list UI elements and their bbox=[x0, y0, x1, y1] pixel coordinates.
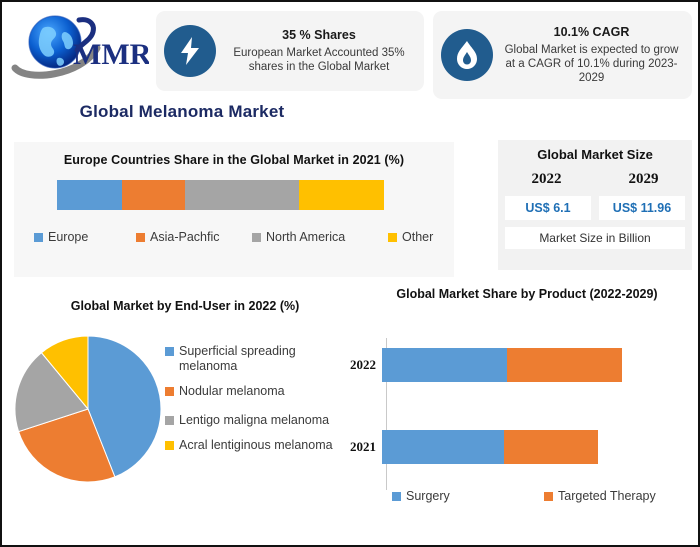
stat-card-shares: 35 % Shares European Market Accounted 35… bbox=[156, 11, 424, 91]
legend-swatch-icon bbox=[34, 233, 43, 242]
legend-item: Superficial spreading melanoma bbox=[165, 344, 340, 374]
bar-segment-targeted-therapy bbox=[504, 430, 598, 464]
legend-item: Other bbox=[388, 230, 433, 244]
legend-item: North America bbox=[252, 230, 388, 244]
stacked-bar bbox=[382, 430, 598, 464]
legend-swatch-icon bbox=[165, 387, 174, 396]
bar-segment-asia-pachfic bbox=[122, 180, 184, 210]
market-size-years: 2022 2029 bbox=[498, 171, 692, 188]
legend-item: Asia-Pachfic bbox=[136, 230, 252, 244]
legend-swatch-icon bbox=[136, 233, 145, 242]
product-chart-title: Global Market Share by Product (2022-202… bbox=[382, 287, 672, 303]
bar-segment-north-america bbox=[185, 180, 299, 210]
legend-label: Superficial spreading melanoma bbox=[179, 344, 340, 374]
category-label: 2022 bbox=[332, 357, 382, 373]
market-size-title: Global Market Size bbox=[498, 140, 692, 162]
market-size-values: US$ 6.1 US$ 11.96 bbox=[498, 196, 692, 220]
bar-segment-europe bbox=[57, 180, 122, 210]
infographic-canvas: MMR 35 % Shares European Market Accounte… bbox=[0, 0, 700, 547]
globe-logo-icon: MMR bbox=[11, 12, 149, 82]
legend-label: Acral lentiginous melanoma bbox=[179, 438, 333, 453]
pie-chart-legend: Superficial spreading melanomaNodular me… bbox=[165, 344, 340, 463]
legend-label: Nodular melanoma bbox=[179, 384, 285, 399]
legend-swatch-icon bbox=[544, 492, 553, 501]
legend-swatch-icon bbox=[165, 441, 174, 450]
stat-headline: 10.1% CAGR bbox=[501, 25, 682, 40]
lightning-bolt-glyph bbox=[177, 36, 203, 66]
stat-headline: 35 % Shares bbox=[224, 28, 414, 43]
legend-item: Surgery bbox=[392, 489, 544, 503]
end-user-pie-chart bbox=[14, 335, 162, 483]
legend-swatch-icon bbox=[392, 492, 401, 501]
bar-segment-targeted-therapy bbox=[507, 348, 622, 382]
stat-description: European Market Accounted 35% shares in … bbox=[224, 46, 414, 74]
legend-label: Surgery bbox=[406, 489, 450, 503]
flame-icon bbox=[441, 29, 493, 81]
legend-label: Targeted Therapy bbox=[558, 489, 656, 503]
product-share-chart: 2022 2021 bbox=[332, 330, 682, 510]
pie-chart-title: Global Market by End-User in 2022 (%) bbox=[20, 299, 350, 313]
legend-item: Nodular melanoma bbox=[165, 384, 340, 399]
product-chart-legend: SurgeryTargeted Therapy bbox=[392, 489, 662, 503]
chart-legend: EuropeAsia-PachficNorth AmericaOther bbox=[34, 230, 434, 244]
brand-logo: MMR bbox=[2, 2, 152, 92]
legend-swatch-icon bbox=[165, 347, 174, 356]
legend-swatch-icon bbox=[252, 233, 261, 242]
legend-label: North America bbox=[266, 230, 345, 244]
market-size-value: US$ 6.1 bbox=[505, 196, 591, 220]
chart-row: 2022 bbox=[332, 348, 622, 382]
page-title: Global Melanoma Market bbox=[2, 102, 362, 122]
market-size-year: 2022 bbox=[498, 171, 595, 188]
chart-row: 2021 bbox=[332, 430, 598, 464]
chart-title: Europe Countries Share in the Global Mar… bbox=[14, 142, 454, 167]
bar-segment-surgery bbox=[382, 348, 507, 382]
legend-label: Europe bbox=[48, 230, 88, 244]
lightning-bolt-icon bbox=[164, 25, 216, 77]
market-size-panel: Global Market Size 2022 2029 US$ 6.1 US$… bbox=[498, 140, 692, 270]
flame-glyph bbox=[455, 40, 479, 70]
header: MMR 35 % Shares European Market Accounte… bbox=[2, 2, 700, 97]
bar-segment-other bbox=[299, 180, 384, 210]
europe-share-chart: Europe Countries Share in the Global Mar… bbox=[14, 142, 454, 277]
bar-segment-surgery bbox=[382, 430, 504, 464]
market-size-value: US$ 11.96 bbox=[599, 196, 685, 220]
market-size-year: 2029 bbox=[595, 171, 692, 188]
category-label: 2021 bbox=[332, 439, 382, 455]
legend-item: Europe bbox=[34, 230, 136, 244]
stat-card-cagr: 10.1% CAGR Global Market is expected to … bbox=[433, 11, 692, 99]
stacked-bar bbox=[382, 348, 622, 382]
legend-item: Targeted Therapy bbox=[544, 489, 656, 503]
legend-label: Other bbox=[402, 230, 433, 244]
brand-wordmark: MMR bbox=[73, 38, 149, 71]
legend-item: Lentigo maligna melanoma bbox=[165, 413, 340, 428]
legend-swatch-icon bbox=[388, 233, 397, 242]
legend-label: Asia-Pachfic bbox=[150, 230, 219, 244]
legend-swatch-icon bbox=[165, 416, 174, 425]
market-size-footnote: Market Size in Billion bbox=[505, 227, 685, 249]
legend-label: Lentigo maligna melanoma bbox=[179, 413, 329, 428]
stat-description: Global Market is expected to grow at a C… bbox=[501, 43, 682, 85]
legend-item: Acral lentiginous melanoma bbox=[165, 438, 340, 453]
stacked-bar bbox=[57, 180, 384, 210]
